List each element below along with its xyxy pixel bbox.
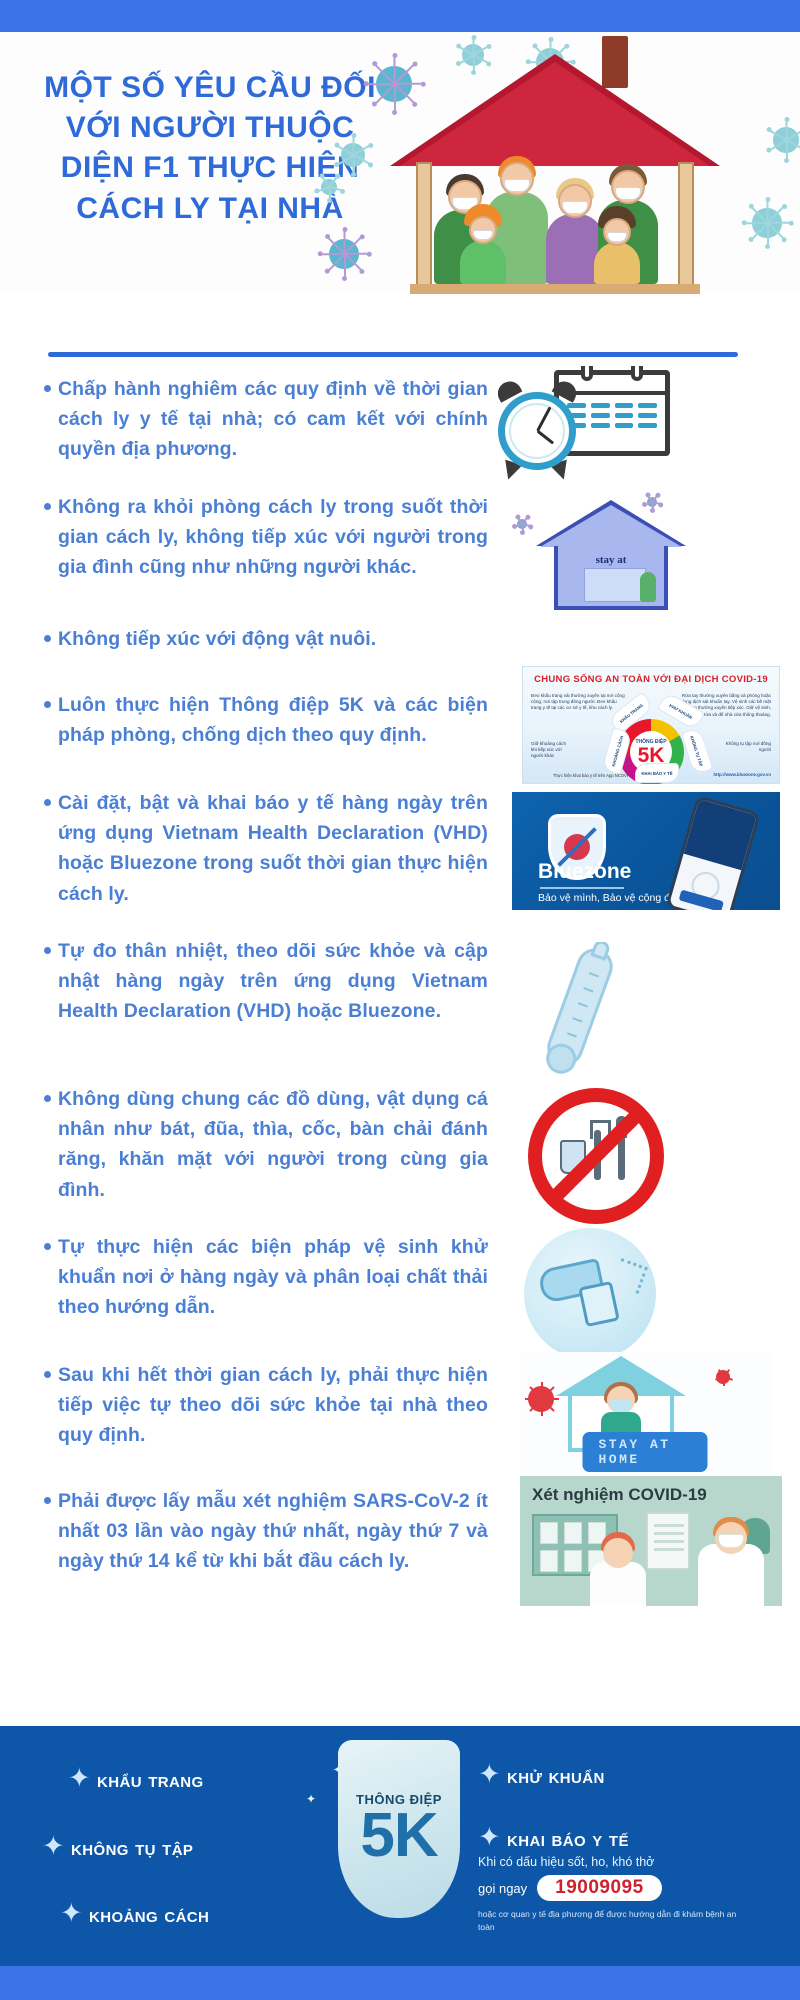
thermometer-illustration (510, 942, 700, 1082)
list-item-text: Không dùng chung các đồ dùng, vật dụng c… (58, 1084, 488, 1205)
list-item: Cài đặt, bật và khai báo y tế hàng ngày … (0, 788, 800, 936)
list-item: Luôn thực hiện Thông điệp 5K và các biện… (0, 690, 800, 788)
list-item-text: Sau khi hết thời gian cách ly, phải thực… (58, 1360, 488, 1451)
stay-at-home-house-illustration: stay at home (498, 488, 708, 618)
list-item: Không ra khỏi phòng cách ly trong suốt t… (0, 492, 800, 624)
virus-icon (334, 136, 372, 174)
poster-text-top-left: Đeo khẩu trang vải thường xuyên tại nơi … (531, 693, 627, 712)
call-label: gọi ngay (478, 1881, 527, 1896)
requirements-list: Chấp hành nghiêm các quy định về thời gi… (0, 374, 800, 1636)
wall-left (416, 162, 432, 294)
bullet-icon (44, 799, 51, 806)
poster-title: CHUNG SỐNG AN TOÀN VỚI ĐẠI DỊCH COVID-19 (523, 674, 779, 685)
stay-at-home-tag: STAY AT HOME (583, 1432, 708, 1472)
header-divider (48, 352, 738, 357)
house-icon: stay at home (536, 500, 686, 610)
five-k-shield: THÔNG ĐIỆP 5K (338, 1740, 460, 1918)
bullet-icon (44, 385, 51, 392)
phone-icon (665, 795, 760, 910)
poster-text-bottom-left: Giữ khoảng cách khi tiếp xúc với người k… (531, 741, 573, 760)
virus-icon (716, 1370, 730, 1384)
no-sharing-sign-illustration (500, 1084, 710, 1234)
disinfect-illustration (500, 1226, 700, 1366)
bottom-accent-bar (0, 1966, 800, 2000)
bullet-icon (44, 1095, 51, 1102)
footer-health-declaration-block: ✦Khai báo y tế Khi có dấu hiệu sốt, ho, … (478, 1822, 778, 1934)
list-item-text: Không tiếp xúc với động vật nuôi. (58, 624, 488, 654)
stay-at-home-girl-illustration: STAY AT HOME (520, 1352, 770, 1480)
bluezone-title: Bluezone (538, 860, 631, 884)
bullet-icon (44, 1243, 51, 1250)
bullet-icon (44, 1371, 51, 1378)
header-section: MỘT SỐ YÊU CẦU ĐỐI VỚI NGƯỜI THUỘC DIỆN … (0, 32, 800, 294)
footer-5k-banner: ✦Khẩu trang ✦Không tụ tập ✦Khoảng cách ✦… (0, 1726, 800, 1966)
thermometer-icon (542, 944, 618, 1071)
doctor-figure (698, 1544, 764, 1606)
hotline-row: gọi ngay 19009095 (478, 1875, 778, 1901)
top-accent-bar (0, 0, 800, 32)
list-item: Tự đo thân nhiệt, theo dõi sức khỏe và c… (0, 936, 800, 1084)
virus-icon (644, 494, 660, 510)
poster-petal: KHÔNG TỤ TẬP (681, 727, 714, 775)
five-k-center: THÔNG ĐIỆP 5K (618, 719, 684, 784)
list-item: Chấp hành nghiêm các quy định về thời gi… (0, 374, 800, 492)
bluezone-banner-illustration: Bluezone Bảo vệ mình, Bảo vệ cộng đồng (512, 792, 780, 910)
prohibition-sign-icon (528, 1088, 664, 1224)
footer-item-khoang-cach: ✦Khoảng cách (60, 1898, 296, 1929)
poster-5k-illustration: CHUNG SỐNG AN TOÀN VỚI ĐẠI DỊCH COVID-19… (522, 666, 780, 784)
virus-icon (514, 516, 530, 532)
virus-icon (744, 200, 790, 246)
virus-icon (766, 120, 800, 160)
footer-item-khai-bao-y-te: ✦Khai báo y tế (478, 1822, 778, 1853)
clipboard-icon (646, 1512, 690, 1570)
patient-figure (590, 1562, 646, 1606)
list-item-text: Cài đặt, bật và khai báo y tế hàng ngày … (58, 788, 488, 909)
house-floor (410, 284, 700, 294)
poster-url: http://www.bluezone.gov.vn (713, 772, 771, 777)
covid-test-scene-illustration: Xét nghiệm COVID-19 (520, 1476, 782, 1606)
covid-test-title: Xét nghiệm COVID-19 (532, 1485, 707, 1505)
sparkle-icon: ✦ (60, 1909, 83, 1925)
plant-icon (640, 572, 656, 602)
list-item-text: Tự đo thân nhiệt, theo dõi sức khỏe và c… (58, 936, 488, 1027)
sparkle-icon: ✦ (306, 1792, 316, 1806)
wall-right (678, 162, 694, 294)
roof-inner (400, 62, 710, 166)
sparkle-icon: ✦ (68, 1774, 91, 1790)
bullet-icon (44, 1497, 51, 1504)
footer-right-column: ✦Khử khuẩn ✦Khai báo y tế Khi có dấu hiệ… (478, 1726, 778, 1966)
list-item-text: Phải được lấy mẫu xét nghiệm SARS-CoV-2 … (58, 1486, 488, 1577)
list-item-text: Chấp hành nghiêm các quy định về thời gi… (58, 374, 488, 465)
shield-5k-label: 5K (360, 1807, 437, 1866)
hotline-number[interactable]: 19009095 (537, 1875, 662, 1901)
list-item: Sau khi hết thời gian cách ly, phải thực… (0, 1360, 800, 1486)
footer-fine-print: hoặc cơ quan y tế địa phương để được hướ… (478, 1908, 738, 1934)
alarm-clock-icon (498, 392, 576, 470)
virus-icon (528, 1386, 554, 1412)
sparkle-icon: ✦ (478, 1833, 501, 1849)
footer-item-khong-tu-tap: ✦Không tụ tập (42, 1831, 296, 1862)
list-item: Phải được lấy mẫu xét nghiệm SARS-CoV-2 … (0, 1486, 800, 1636)
list-item-text: Luôn thực hiện Thông điệp 5K và các biện… (58, 690, 488, 750)
family-member (460, 240, 506, 284)
list-item: Tự thực hiện các biện pháp vệ sinh khử k… (0, 1232, 800, 1360)
infographic-page: MỘT SỐ YÊU CẦU ĐỐI VỚI NGƯỜI THUỘC DIỆN … (0, 0, 800, 2000)
bullet-icon (44, 701, 51, 708)
poster-app-note: Thực hiện khai báo y tế trên App NCOVI (553, 773, 628, 778)
bluezone-tagline: Bảo vệ mình, Bảo vệ cộng đồng (538, 892, 687, 904)
footer-left-column: ✦Khẩu trang ✦Không tụ tập ✦Khoảng cách (36, 1726, 296, 1966)
list-item-text: Tự thực hiện các biện pháp vệ sinh khử k… (58, 1232, 488, 1323)
footer-item-khu-khuan: ✦Khử khuẩn (478, 1759, 778, 1790)
spray-bottle-icon (578, 1281, 620, 1327)
family-member (594, 242, 640, 284)
footer-item-khau-trang: ✦Khẩu trang (68, 1763, 296, 1794)
footer-symptom-note: Khi có dấu hiệu sốt, ho, khó thở (478, 1855, 778, 1869)
list-item: Không dùng chung các đồ dùng, vật dụng c… (0, 1084, 800, 1232)
calendar-clock-illustration (498, 366, 688, 496)
sparkle-icon: ✦ (478, 1770, 501, 1786)
bullet-icon (44, 947, 51, 954)
list-item-text: Không ra khỏi phòng cách ly trong suốt t… (58, 492, 488, 583)
family-group (434, 154, 676, 284)
bullet-icon (44, 635, 51, 642)
disinfect-circle-icon (524, 1228, 656, 1360)
virus-icon (320, 230, 368, 278)
sparkle-icon: ✦ (42, 1842, 65, 1858)
bullet-icon (44, 503, 51, 510)
house-with-family-illustration (390, 54, 720, 294)
spray-mist-icon (612, 1258, 648, 1294)
header-illustration (330, 32, 800, 294)
virus-icon (316, 174, 342, 200)
poster-text-bottom-right: Không tụ tập nơi đông người (713, 741, 771, 753)
